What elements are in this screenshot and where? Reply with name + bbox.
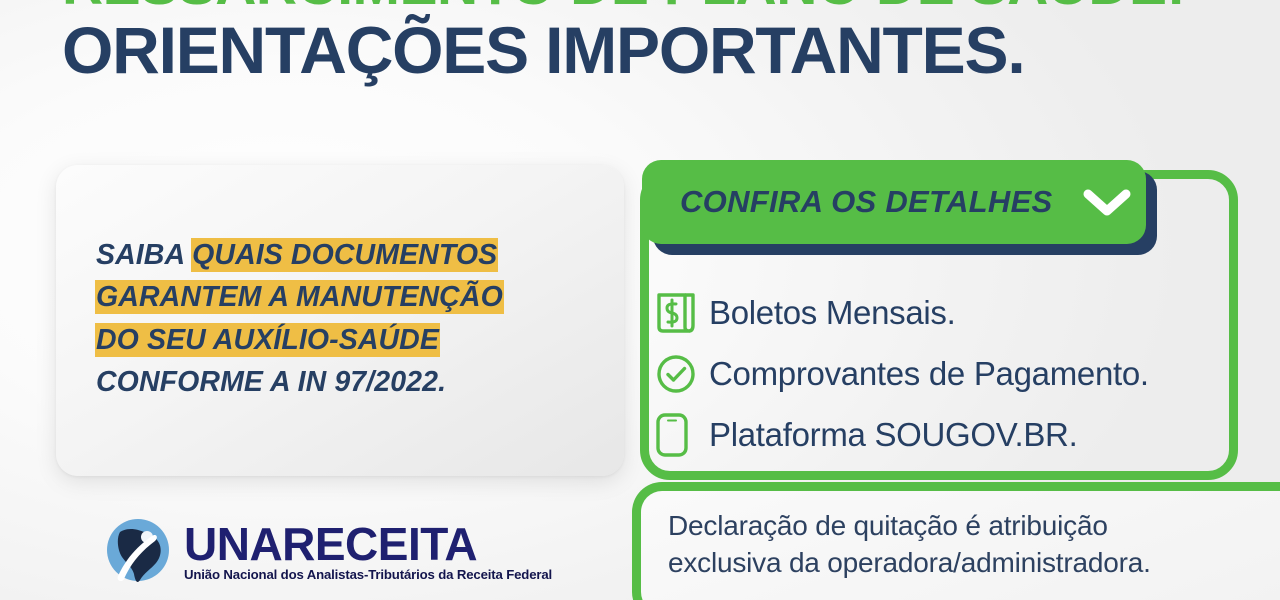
statement-lead: SAIBA (96, 239, 192, 271)
logo-text: UNARECEITA União Nacional dos Analistas-… (184, 523, 552, 582)
confira-os-detalhes-button[interactable]: CONFIRA OS DETALHES (642, 160, 1146, 244)
headline-block: RESSARCIMENTO DE PLANO DE SAÚDE: ORIENTA… (0, 0, 1280, 85)
statement-highlight-1: QUAIS DOCUMENTOS (192, 239, 497, 271)
left-card-statement: SAIBA QUAIS DOCUMENTOS GARANTEM A MANUTE… (96, 234, 606, 404)
check-circle-icon (655, 353, 703, 395)
brazil-globe-icon (104, 516, 176, 588)
disclaimer-line-2: exclusiva da operadora/administradora. (668, 544, 1248, 581)
list-item-label: Comprovantes de Pagamento. (709, 355, 1149, 393)
chevron-down-icon (1081, 185, 1133, 219)
headline-main-line: ORIENTAÇÕES IMPORTANTES. (62, 16, 1280, 85)
receipt-dollar-icon (655, 291, 703, 335)
left-info-card: SAIBA QUAIS DOCUMENTOS GARANTEM A MANUTE… (56, 165, 624, 476)
logo-tagline: União Nacional dos Analistas-Tributários… (184, 568, 552, 581)
list-item: Boletos Mensais. (655, 282, 1235, 343)
disclaimer-text: Declaração de quitação é atribuição excl… (668, 507, 1248, 581)
list-item-label: Boletos Mensais. (709, 294, 956, 332)
cta-label: CONFIRA OS DETALHES (680, 184, 1053, 220)
unareceita-logo: UNARECEITA União Nacional dos Analistas-… (104, 516, 552, 588)
mobile-phone-icon (655, 412, 703, 458)
headline-top-line: RESSARCIMENTO DE PLANO DE SAÚDE: (62, 0, 1280, 14)
disclaimer-line-1: Declaração de quitação é atribuição (668, 507, 1248, 544)
logo-wordmark: UNARECEITA (184, 523, 477, 565)
statement-tail: CONFORME A IN 97/2022. (96, 366, 446, 398)
statement-highlight-3: DO SEU AUXÍLIO-SAÚDE (96, 324, 439, 356)
requirements-list: Boletos Mensais. Comprovantes de Pagamen… (655, 282, 1235, 465)
statement-highlight-2: GARANTEM A MANUTENÇÃO (96, 281, 503, 313)
poster-canvas: RESSARCIMENTO DE PLANO DE SAÚDE: ORIENTA… (0, 0, 1280, 600)
list-item-label: Plataforma SOUGOV.BR. (709, 416, 1077, 454)
list-item: Comprovantes de Pagamento. (655, 343, 1235, 404)
list-item: Plataforma SOUGOV.BR. (655, 404, 1235, 465)
